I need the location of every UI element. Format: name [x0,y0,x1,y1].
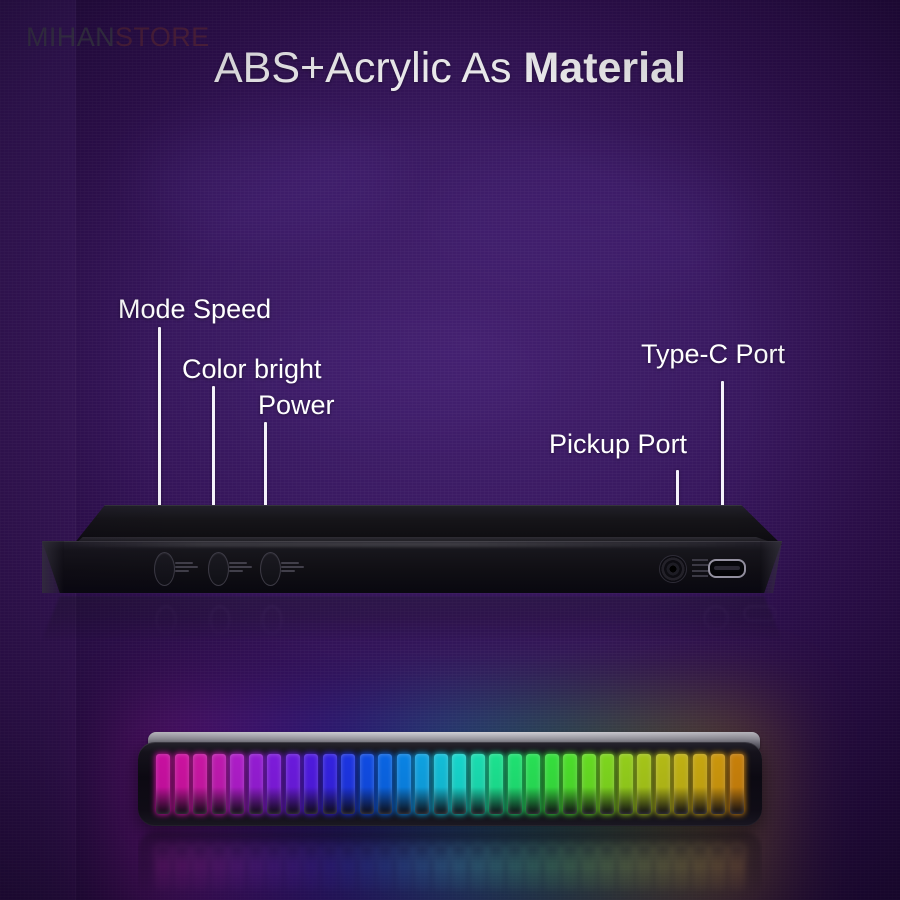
led-segment [526,846,540,890]
led-segment [397,846,411,890]
power-icon [281,554,307,580]
led-segment [600,754,614,814]
callout-label-mode-speed: Mode Speed [118,296,271,323]
callout-label-color-bright: Color bright [182,356,322,383]
led-segment [212,846,226,890]
led-segment [637,754,651,814]
led-segment [193,754,207,814]
led-segment [489,846,503,890]
led-segment [249,846,263,890]
background-left-panel [0,0,76,900]
color-bright-button[interactable] [208,552,229,586]
led-segment [378,754,392,814]
led-segment [471,846,485,890]
usb-type-c-port[interactable] [708,559,746,578]
color-bright-icon [229,554,255,580]
led-segment [341,754,355,814]
device-reflection-mark [744,606,776,621]
led-segment [619,846,633,890]
led-segment [730,754,744,814]
rgb-led-level-bar[interactable] [138,732,762,828]
led-segment [156,754,170,814]
led-segment [545,754,559,814]
led-segment [175,846,189,890]
power-button[interactable] [260,552,281,586]
led-segment [711,754,725,814]
background-seam [75,0,76,900]
callout-label-pickup-port: Pickup Port [549,431,687,458]
led-segment [545,846,559,890]
led-reflection-segments [154,846,746,890]
led-segment [711,846,725,890]
led-segment [674,754,688,814]
led-segment [489,754,503,814]
led-segment [582,846,596,890]
led-segment [156,846,170,890]
device-reflection-mark [156,606,176,634]
led-segment [693,754,707,814]
mode-speed-icon [175,554,201,580]
led-segment [619,754,633,814]
device-reflection-mark [704,606,728,630]
led-segment [267,846,281,890]
led-segment [323,846,337,890]
callout-label-power: Power [258,392,335,419]
product-infographic: MIHANSTORE ABS+Acrylic As Material Mode … [0,0,900,900]
led-segment [526,754,540,814]
device-endcap-left [42,541,64,593]
led-segment [378,846,392,890]
led-segment [600,846,614,890]
mode-speed-button[interactable] [154,552,175,586]
led-segment [563,754,577,814]
led-segment [230,846,244,890]
device-reflection [42,596,782,644]
led-segment [637,846,651,890]
led-segment [730,846,744,890]
page-title: ABS+Acrylic As Material [0,46,900,91]
led-segment [360,754,374,814]
led-segment [452,846,466,890]
device-reflection-body [42,596,782,640]
led-segment [415,754,429,814]
led-segment [249,754,263,814]
led-segment [360,846,374,890]
device-reflection-mark [210,606,230,634]
callout-label-type-c-port: Type-C Port [641,341,785,368]
led-segment [341,846,355,890]
led-segment [415,846,429,890]
device-reflection-mark [262,606,282,634]
led-segment [656,754,670,814]
led-segment [286,846,300,890]
led-segment [434,754,448,814]
led-segment [193,846,207,890]
led-segment [508,846,522,890]
led-segment-row [154,754,746,814]
led-segment [434,846,448,890]
device-endcap-right [760,541,782,593]
led-segment [452,754,466,814]
led-segment [471,754,485,814]
led-segment [304,846,318,890]
led-segment [397,754,411,814]
pickup-microphone-port[interactable] [659,555,687,583]
led-segment [230,754,244,814]
led-segment [656,846,670,890]
page-title-light: ABS+Acrylic As [214,44,512,92]
led-segment [286,754,300,814]
led-segment [674,846,688,890]
led-bar-reflection [138,828,762,898]
rgb-light-bar-rear-view[interactable] [42,505,782,597]
led-segment [175,754,189,814]
led-segment [267,754,281,814]
led-segment [212,754,226,814]
led-segment [693,846,707,890]
led-segment [304,754,318,814]
led-segment [582,754,596,814]
page-title-bold: Material [523,44,686,92]
port-label-ticks-icon [692,559,708,577]
led-segment [323,754,337,814]
led-segment [508,754,522,814]
led-segment [563,846,577,890]
device-highlight [64,542,760,547]
